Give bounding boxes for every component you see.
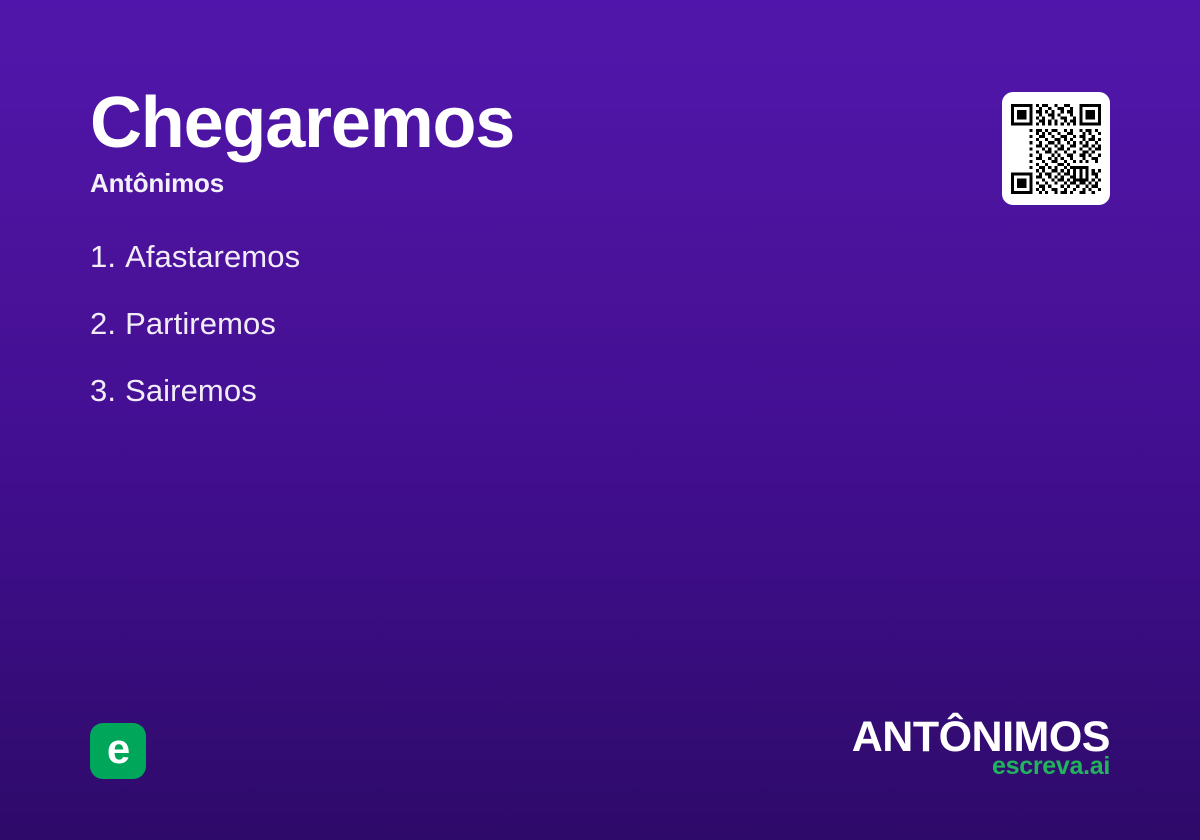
list-item-label: Partiremos — [125, 306, 276, 341]
list-item-index: 3. — [90, 372, 116, 410]
slide-canvas: Chegaremos Antônimos 1.Afastaremos 2.Par… — [0, 0, 1200, 840]
footer-wordmark: ANTÔNIMOS escreva.ai — [852, 716, 1110, 779]
list-item-index: 1. — [90, 238, 116, 276]
list-item-label: Sairemos — [125, 373, 257, 408]
list-item-index: 2. — [90, 305, 116, 343]
brand-mark-letter: e — [107, 728, 129, 770]
escreva-logo-icon[interactable]: e — [90, 723, 146, 779]
list-item: 2.Partiremos — [90, 305, 990, 343]
list-item: 1.Afastaremos — [90, 238, 990, 276]
page-title: Chegaremos — [90, 84, 930, 162]
list-item-label: Afastaremos — [125, 239, 300, 274]
category-label: Antônimos — [90, 168, 930, 198]
list-item: 3.Sairemos — [90, 372, 990, 410]
antonyms-list: 1.Afastaremos 2.Partiremos 3.Sairemos — [90, 238, 990, 439]
qr-code-icon — [1011, 104, 1101, 194]
qr-code-panel[interactable] — [1002, 92, 1110, 205]
header-block: Chegaremos Antônimos — [90, 84, 930, 198]
